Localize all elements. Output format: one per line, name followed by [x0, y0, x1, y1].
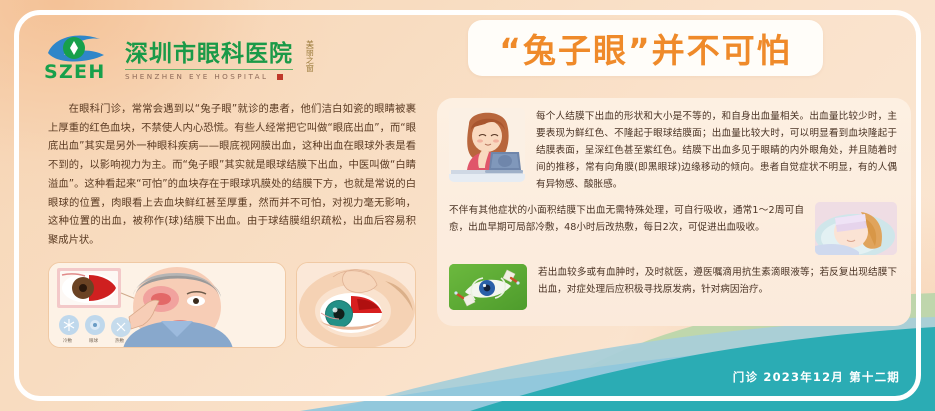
right-section-2: 不伴有其他症状的小面积结膜下出血无需特殊处理，可自行吸收，通常1～2周可自愈，出…: [449, 202, 897, 255]
poster-root: SZEH 深圳市眼科医院 SHENZHEN EYE HOSPITAL 美丽之窗 …: [0, 0, 935, 411]
bloodshot-eye-closeup-illustration: [296, 262, 416, 348]
logo-acronym: SZEH: [44, 61, 106, 83]
woman-resting-with-compress-illustration: [815, 202, 897, 255]
logo-name-en-wrap: SHENZHEN EYE HOSPITAL: [125, 69, 293, 81]
logo-calligraphy: 美丽之窗: [305, 40, 313, 72]
issue-footer: 门诊 2023年12月 第十二期: [733, 369, 900, 385]
right-column-panel: 每个人结膜下出血的形状和大小是不等的，和自身出血量相关。出血量比较少时，主要表现…: [437, 98, 911, 326]
patient-pointing-eye-illustration: 冷敷 眼球 热敷: [48, 262, 286, 348]
intro-paragraph: 在眼科门诊，常常会遇到以“兔子眼”就诊的患者，他们洁白如瓷的眼睛被裹上厚重的红色…: [48, 100, 416, 250]
right-section-2-text: 不伴有其他症状的小面积结膜下出血无需特殊处理，可自行吸收，通常1～2周可自愈，出…: [449, 202, 804, 236]
hospital-logo: SZEH 深圳市眼科医院 SHENZHEN EYE HOSPITAL 美丽之窗: [44, 33, 313, 81]
patient-illustration-svg: 冷敷 眼球 热敷: [49, 263, 286, 348]
page-title: “兔子眼”并不可怕: [499, 24, 791, 72]
girl-at-laptop-illustration: [449, 108, 525, 182]
right-section-1-text: 每个人结膜下出血的形状和大小是不等的，和自身出血量相关。出血量比较少时，主要表现…: [536, 108, 897, 193]
logo-name-en: SHENZHEN EYE HOSPITAL: [125, 72, 268, 81]
eye-logo-icon: SZEH: [44, 33, 116, 81]
right-section-3: 若出血较多或有血肿时，及时就医，遵医嘱滴用抗生素滴眼液等；若反复出现结膜下出血，…: [449, 264, 897, 310]
svg-text:冷敷: 冷敷: [63, 337, 72, 344]
right-section-1: 每个人结膜下出血的形状和大小是不等的，和自身出血量相关。出血量比较少时，主要表现…: [449, 108, 897, 193]
svg-text:热敷: 热敷: [115, 337, 124, 344]
left-column: 在眼科门诊，常常会遇到以“兔子眼”就诊的患者，他们洁白如瓷的眼睛被裹上厚重的红色…: [48, 100, 416, 348]
logo-seal-icon: [277, 74, 283, 80]
eye-drops-green-illustration: [449, 264, 527, 310]
left-image-row: 冷敷 眼球 热敷: [48, 262, 416, 348]
right-section-3-text: 若出血较多或有血肿时，及时就医，遵医嘱滴用抗生素滴眼液等；若反复出现结膜下出血，…: [538, 264, 897, 298]
headline-pill: “兔子眼”并不可怕: [468, 20, 823, 76]
resting-woman-svg: [815, 202, 897, 255]
eye-drops-svg: [449, 264, 527, 310]
logo-name-cn: 深圳市眼科医院: [125, 43, 293, 66]
logo-wordmark: 深圳市眼科医院 SHENZHEN EYE HOSPITAL: [125, 43, 293, 81]
eye-closeup-svg: [297, 263, 416, 348]
svg-text:眼球: 眼球: [89, 337, 98, 344]
girl-laptop-svg: [449, 108, 525, 182]
